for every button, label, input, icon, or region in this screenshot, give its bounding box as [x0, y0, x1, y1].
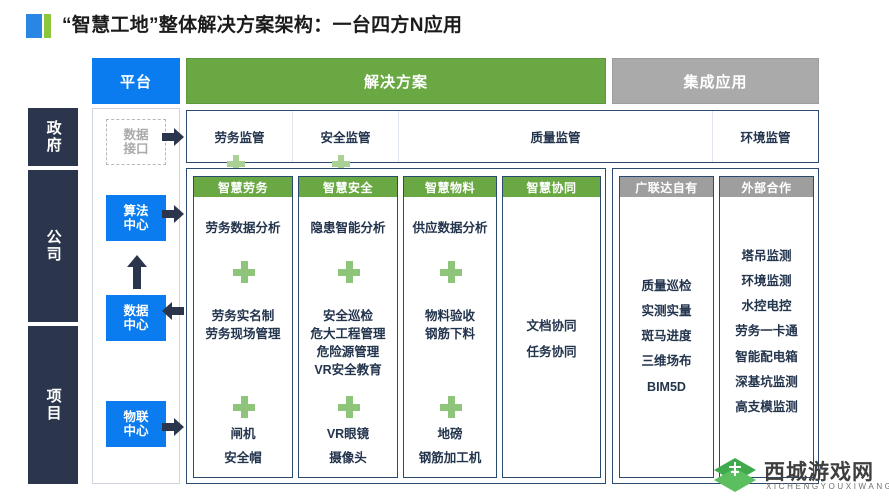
- list-item[interactable]: 危险源管理: [299, 343, 397, 361]
- list-item[interactable]: 高支模监测: [720, 398, 813, 416]
- platform-box-data-interface[interactable]: 数据 接口: [106, 119, 166, 165]
- solution-column-smart-material: 智慧物料 供应数据分析 物料验收 钢筋下料 地磅 钢筋加工机: [403, 176, 497, 478]
- gov-cell-environment[interactable]: 环境监管: [713, 111, 818, 162]
- brand-logo-icon: [26, 14, 54, 38]
- platform-box-line2: 中心: [123, 318, 148, 332]
- list-item[interactable]: BIM5D: [620, 378, 713, 396]
- platform-box-iot-center[interactable]: 物联 中心: [106, 401, 166, 447]
- solution-column-smart-collaboration: 智慧协同 文档协同 任务协同: [502, 176, 601, 478]
- plus-icon: [233, 396, 255, 418]
- list-item[interactable]: 劳务现场管理: [194, 325, 292, 343]
- column-body: 隐患智能分析 安全巡检 危大工程管理 危险源管理 VR安全教育 VR眼镜 摄像头: [299, 197, 397, 479]
- solution-column-smart-safety: 智慧安全 隐患智能分析 安全巡检 危大工程管理 危险源管理 VR安全教育 VR眼…: [298, 176, 398, 478]
- up-arrow-icon: [126, 255, 148, 289]
- column-header: 智慧协同: [503, 177, 600, 197]
- column-body: 劳务数据分析 劳务实名制 劳务现场管理 闸机 安全帽: [194, 197, 292, 479]
- list-item[interactable]: 塔吊监测: [720, 247, 813, 265]
- list-item[interactable]: 斑马进度: [620, 327, 713, 345]
- column-header: 广联达自有: [620, 177, 713, 197]
- list-item[interactable]: 任务协同: [503, 343, 600, 361]
- role-bar-company[interactable]: 公司: [28, 170, 78, 322]
- header-applications[interactable]: 集成应用: [612, 58, 819, 104]
- list-item[interactable]: 安全巡检: [299, 307, 397, 325]
- solution-frame: 智慧劳务 劳务数据分析 劳务实名制 劳务现场管理 闸机 安全帽 智慧安全: [186, 168, 606, 484]
- header-solution[interactable]: 解决方案: [186, 58, 606, 104]
- role-label-project: 项目: [44, 388, 61, 422]
- platform-box-line1: 数据: [123, 304, 148, 318]
- plus-icon: [440, 261, 462, 283]
- plus-icon: [233, 261, 255, 283]
- plus-icon: [338, 261, 360, 283]
- platform-box-algorithm-center[interactable]: 算法 中心: [106, 195, 166, 241]
- platform-box-line1: 数据: [123, 128, 148, 142]
- list-item[interactable]: 地磅: [404, 425, 496, 443]
- arrow-right-iot-icon: [162, 418, 184, 436]
- list-item[interactable]: 劳务数据分析: [194, 219, 292, 237]
- role-label-government: 政府: [44, 120, 61, 154]
- column-body: 质量巡检 实测实量 斑马进度 三维场布 BIM5D: [620, 197, 713, 479]
- role-bar-government[interactable]: 政府: [28, 108, 78, 166]
- watermark-subtext: XICHENGYOUXIWANG: [766, 482, 889, 491]
- list-item[interactable]: 三维场布: [620, 352, 713, 370]
- list-item[interactable]: 水控电控: [720, 297, 813, 315]
- plus-icon: [338, 396, 360, 418]
- list-item[interactable]: 钢筋下料: [404, 325, 496, 343]
- solution-column-smart-labor: 智慧劳务 劳务数据分析 劳务实名制 劳务现场管理 闸机 安全帽: [193, 176, 293, 478]
- column-header: 外部合作: [720, 177, 813, 197]
- application-frame: 广联达自有 质量巡检 实测实量 斑马进度 三维场布 BIM5D 外部合作 塔吊监…: [612, 168, 819, 484]
- page-title: “智慧工地”整体解决方案架构：一台四方N应用: [62, 10, 462, 37]
- platform-box-line2: 中心: [123, 424, 148, 438]
- platform-box-line2: 中心: [123, 218, 148, 232]
- list-item[interactable]: 危大工程管理: [299, 325, 397, 343]
- list-item[interactable]: 摄像头: [299, 449, 397, 467]
- list-item[interactable]: 实测实量: [620, 302, 713, 320]
- list-item[interactable]: 智能配电箱: [720, 348, 813, 366]
- column-header: 智慧物料: [404, 177, 496, 197]
- plus-icon: [440, 396, 462, 418]
- platform-box-line1: 物联: [123, 410, 148, 424]
- watermark-logo-icon: [712, 456, 758, 496]
- platform-box-data-center[interactable]: 数据 中心: [106, 295, 166, 341]
- arrow-left-data-center-icon: [162, 302, 184, 320]
- list-item[interactable]: 劳务实名制: [194, 307, 292, 325]
- list-item[interactable]: 隐患智能分析: [299, 219, 397, 237]
- list-item[interactable]: 文档协同: [503, 317, 600, 335]
- platform-box-line1: 算法: [123, 204, 148, 218]
- list-item[interactable]: 劳务一卡通: [720, 322, 813, 340]
- role-label-company: 公司: [44, 229, 61, 263]
- list-item[interactable]: VR安全教育: [299, 361, 397, 379]
- column-body: 文档协同 任务协同: [503, 197, 600, 479]
- column-body: 塔吊监测 环境监测 水控电控 劳务一卡通 智能配电箱 深基坑监测 高支模监测: [720, 197, 813, 479]
- arrow-right-algorithm-icon: [162, 205, 184, 223]
- list-item[interactable]: 质量巡检: [620, 277, 713, 295]
- arrow-right-government-icon: [162, 128, 184, 146]
- application-column-external-partner: 外部合作 塔吊监测 环境监测 水控电控 劳务一卡通 智能配电箱 深基坑监测 高支…: [719, 176, 814, 478]
- application-column-glodon-own: 广联达自有 质量巡检 实测实量 斑马进度 三维场布 BIM5D: [619, 176, 714, 478]
- column-body: 供应数据分析 物料验收 钢筋下料 地磅 钢筋加工机: [404, 197, 496, 479]
- list-item[interactable]: 环境监测: [720, 272, 813, 290]
- watermark: 西城游戏网 XICHENGYOUXIWANG: [712, 456, 884, 498]
- title-bar: “智慧工地”整体解决方案架构：一台四方N应用: [0, 0, 889, 50]
- list-item[interactable]: 安全帽: [194, 449, 292, 467]
- list-item[interactable]: 闸机: [194, 425, 292, 443]
- column-header: 智慧安全: [299, 177, 397, 197]
- list-item[interactable]: 物料验收: [404, 307, 496, 325]
- platform-box-line2: 接口: [123, 142, 148, 156]
- list-item[interactable]: 供应数据分析: [404, 219, 496, 237]
- list-item[interactable]: VR眼镜: [299, 425, 397, 443]
- column-header: 智慧劳务: [194, 177, 292, 197]
- gov-cell-quality[interactable]: 质量监管: [399, 111, 713, 162]
- role-bar-project[interactable]: 项目: [28, 326, 78, 484]
- government-row: 劳务监管 安全监管 质量监管 环境监管: [186, 110, 819, 163]
- slide-canvas: “智慧工地”整体解决方案架构：一台四方N应用 平台 解决方案 集成应用 政府 公…: [0, 0, 889, 500]
- header-platform[interactable]: 平台: [92, 58, 180, 104]
- list-item[interactable]: 深基坑监测: [720, 373, 813, 391]
- list-item[interactable]: 钢筋加工机: [404, 449, 496, 467]
